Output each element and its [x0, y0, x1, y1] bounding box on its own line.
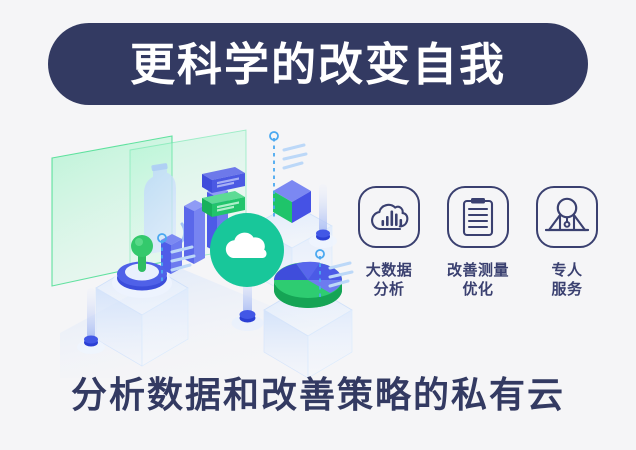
- clipboard-lines-icon: [447, 186, 509, 248]
- title-banner: 更科学的改变自我: [48, 23, 588, 105]
- page-caption: 分析数据和改善策略的私有云: [0, 378, 636, 414]
- isometric-illustration: [30, 128, 360, 378]
- feature-label: 改善测量 优化: [447, 261, 509, 299]
- feature-list: 大数据 分析 改善测量 优化: [350, 186, 606, 331]
- feature-label: 专人 服务: [551, 261, 582, 299]
- banner-title: 更科学的改变自我: [130, 42, 506, 87]
- feature-item-improvement-measurement[interactable]: 改善测量 优化: [439, 186, 517, 331]
- feature-label: 大数据 分析: [366, 261, 413, 299]
- feature-item-big-data-analysis[interactable]: 大数据 分析: [350, 186, 428, 331]
- cloud-bar-chart-icon: [358, 186, 420, 248]
- poster-canvas: 更科学的改变自我: [0, 0, 636, 450]
- feature-item-dedicated-service[interactable]: 专人 服务: [528, 186, 606, 331]
- support-person-icon: [536, 186, 598, 248]
